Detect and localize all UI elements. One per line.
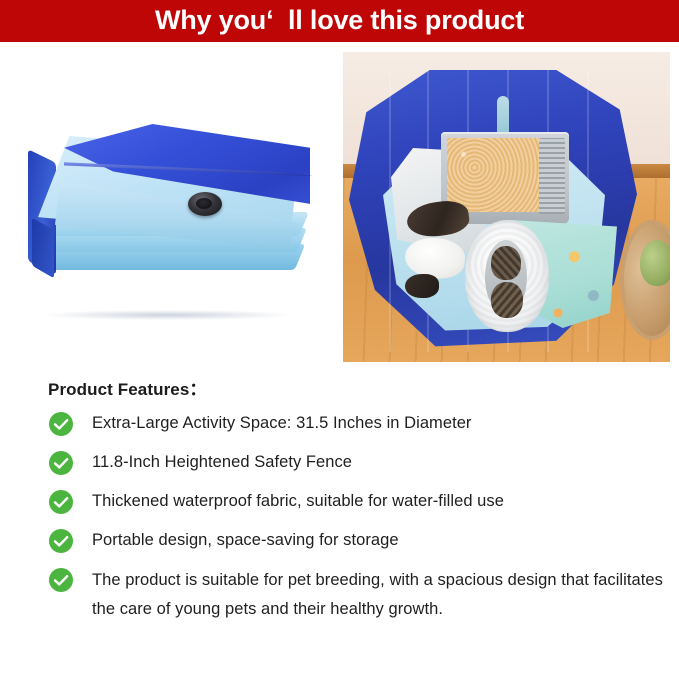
list-item-label: Extra-Large Activity Space: 31.5 Inches … (92, 410, 663, 437)
list-item: Thickened waterproof fabric, suitable fo… (48, 488, 663, 515)
litter-box-grate (539, 138, 565, 214)
header-banner: Why you‘ ll love this product (0, 0, 679, 42)
product-features-list: Extra-Large Activity Space: 31.5 Inches … (48, 410, 663, 636)
folded-pool-illustration (24, 124, 310, 292)
list-item: Portable design, space-saving for storag… (48, 527, 663, 554)
list-item-label: The product is suitable for pet breeding… (92, 566, 663, 624)
kitten-dark-small (405, 274, 439, 298)
cat-litter (447, 138, 539, 212)
list-item-label: Portable design, space-saving for storag… (92, 527, 663, 554)
check-circle-icon (48, 489, 74, 515)
pool-drop-shadow (42, 310, 292, 320)
product-image-gallery (0, 42, 679, 367)
list-item-label: 11.8-Inch Heightened Safety Fence (92, 449, 663, 476)
green-object (640, 240, 670, 286)
check-circle-icon (48, 567, 74, 593)
list-item-label: Thickened waterproof fabric, suitable fo… (92, 488, 663, 515)
banner-title: Why you‘ ll love this product (0, 0, 679, 42)
check-circle-icon (48, 528, 74, 554)
drain-plug-icon (188, 192, 222, 216)
list-item: 11.8-Inch Heightened Safety Fence (48, 449, 663, 476)
product-photo-pool-in-use (343, 52, 670, 362)
list-item: The product is suitable for pet breeding… (48, 566, 663, 624)
blue-foldable-pool (349, 70, 637, 352)
kitten-tabby (491, 246, 521, 280)
product-features-heading: Product Features： (48, 375, 207, 400)
kitten-tabby (491, 282, 523, 318)
check-circle-icon (48, 411, 74, 437)
product-photo-folded-pool (10, 62, 330, 342)
list-item: Extra-Large Activity Space: 31.5 Inches … (48, 410, 663, 437)
check-circle-icon (48, 450, 74, 476)
